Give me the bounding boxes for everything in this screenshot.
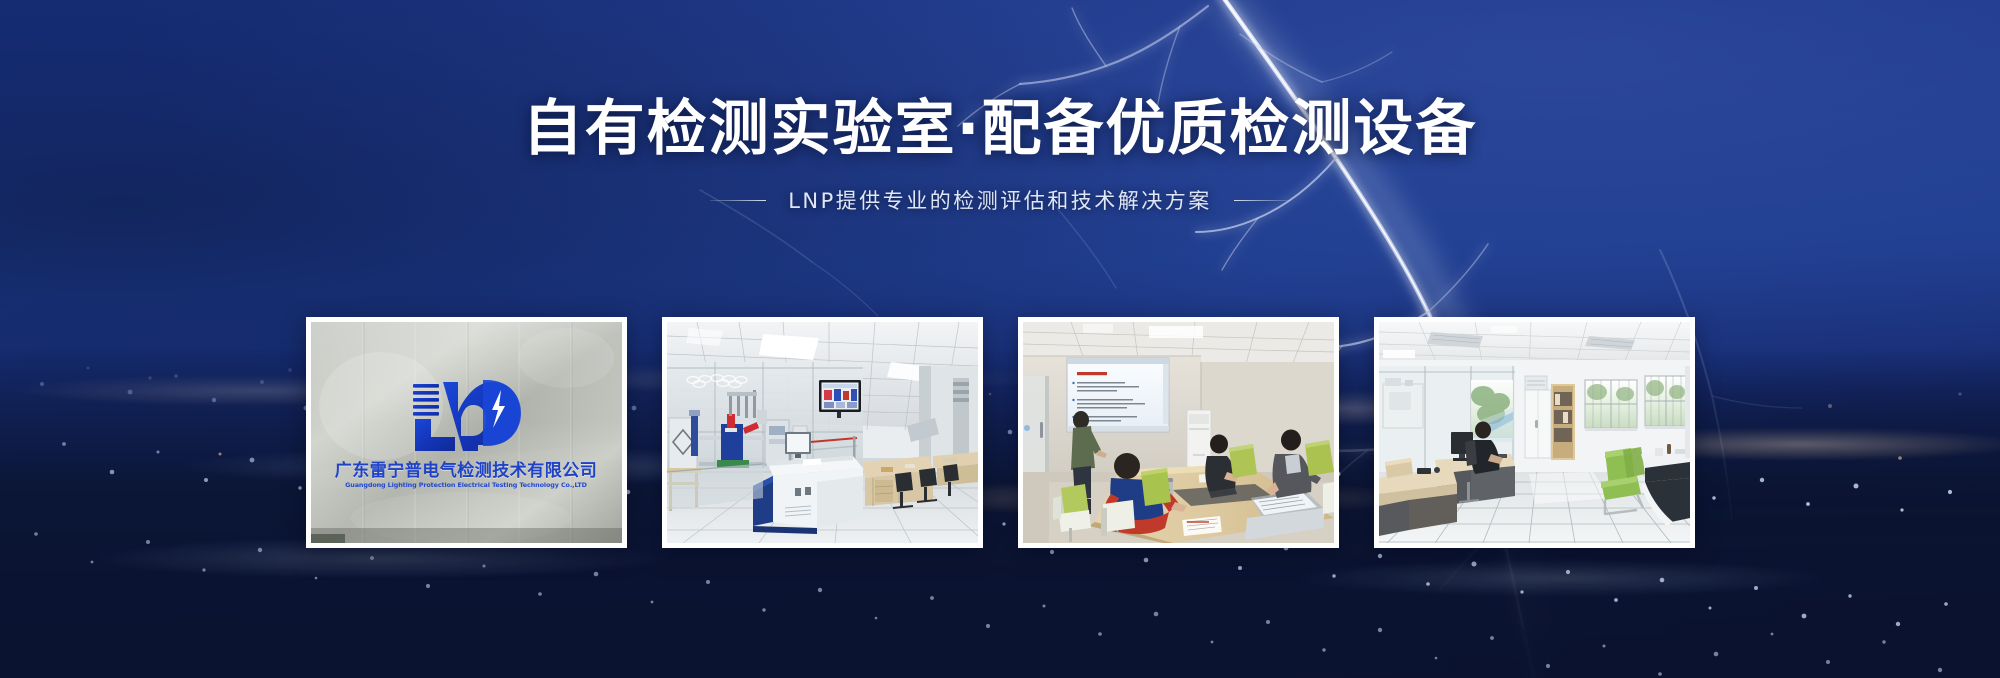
gallery-item-company-logo-wall[interactable]: 广东雷宁普电气检测技术有限公司 Guangdong Lighting Prote…: [306, 317, 627, 548]
rule-left-icon: [710, 200, 766, 201]
hero-banner: 自有检测实验室·配备优质检测设备 LNP提供专业的检测评估和技术解决方案: [0, 0, 2000, 678]
hero-subtitle-row: LNP提供专业的检测评估和技术解决方案: [0, 185, 2000, 215]
photo-gallery: 广东雷宁普电气检测技术有限公司 Guangdong Lighting Prote…: [0, 317, 2000, 548]
gallery-item-training-meeting-room[interactable]: [1018, 317, 1339, 548]
photo-company-logo-wall: 广东雷宁普电气检测技术有限公司 Guangdong Lighting Prote…: [311, 322, 622, 543]
logo-wall-caption-en: Guangdong Lighting Protection Electrical…: [311, 481, 622, 489]
rule-right-icon: [1234, 200, 1290, 201]
photo-training-meeting-room: [1023, 322, 1334, 543]
logo-wall-caption-cn: 广东雷宁普电气检测技术有限公司: [311, 456, 622, 481]
gallery-item-office-area[interactable]: [1374, 317, 1695, 548]
gallery-item-testing-laboratory[interactable]: [662, 317, 983, 548]
page-title: 自有检测实验室·配备优质检测设备: [0, 96, 2000, 163]
hero-text-block: 自有检测实验室·配备优质检测设备 LNP提供专业的检测评估和技术解决方案: [0, 96, 2000, 215]
photo-testing-laboratory: [667, 322, 978, 543]
photo-office-area: [1379, 322, 1690, 543]
hero-subtitle: LNP提供专业的检测评估和技术解决方案: [788, 185, 1212, 215]
